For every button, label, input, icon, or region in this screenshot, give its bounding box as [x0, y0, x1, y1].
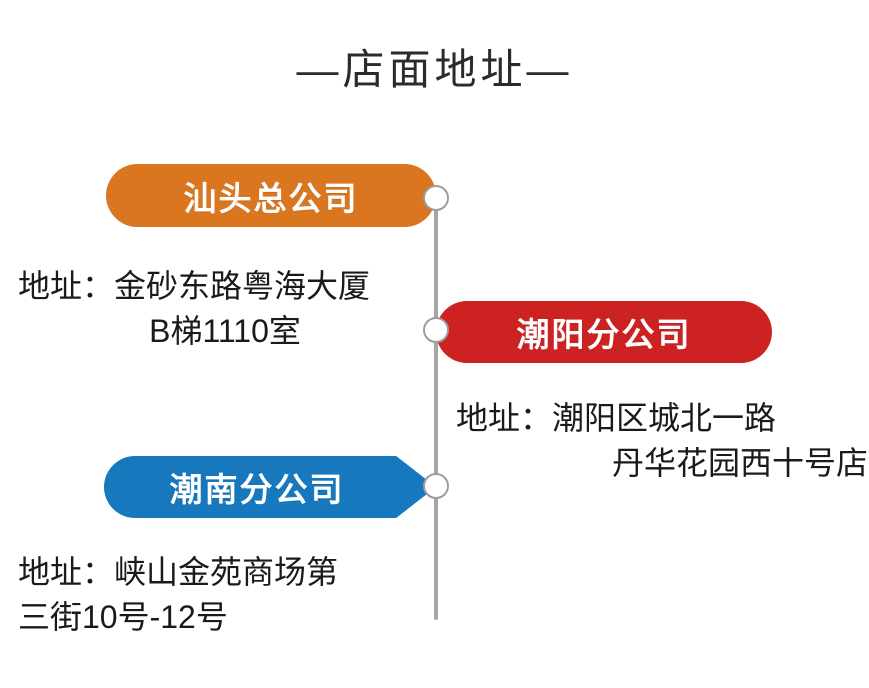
badge-chaoyang-branch: 潮阳分公司: [436, 301, 772, 363]
address-chaonan-line-1: 地址：峡山金苑商场第: [18, 550, 432, 595]
address-chaoyang: 地址：潮阳区城北一路 丹华花园西十号店: [456, 396, 868, 487]
badge-label-shantou: 汕头总公司: [184, 172, 359, 220]
badge-label-chaonan: 潮南分公司: [170, 463, 345, 511]
timeline-node-chaoyang: [423, 317, 449, 343]
address-chaonan-line-2: 三街10号-12号: [18, 595, 432, 640]
badge-shantou-head-office: 汕头总公司: [106, 164, 436, 227]
address-shantou-line-1: 地址：金砂东路粤海大厦: [18, 264, 432, 309]
timeline-node-chaonan: [423, 473, 449, 499]
address-chaonan: 地址：峡山金苑商场第 三街10号-12号: [18, 550, 432, 641]
timeline-node-shantou: [423, 185, 449, 211]
address-shantou: 地址：金砂东路粤海大厦 B梯1110室: [18, 264, 432, 355]
timeline-axis: [434, 196, 438, 620]
store-address-infographic: —店面地址— 汕头总公司 地址：金砂东路粤海大厦 B梯1110室 潮阳分公司 地…: [0, 0, 869, 688]
badge-label-chaoyang: 潮阳分公司: [517, 308, 692, 356]
badge-chaonan-branch: 潮南分公司: [104, 456, 436, 518]
page-title: —店面地址—: [0, 36, 869, 97]
address-chaoyang-line-1: 地址：潮阳区城北一路: [456, 396, 868, 441]
address-shantou-line-2: B梯1110室: [18, 309, 432, 354]
address-chaoyang-line-2: 丹华花园西十号店: [456, 441, 868, 486]
